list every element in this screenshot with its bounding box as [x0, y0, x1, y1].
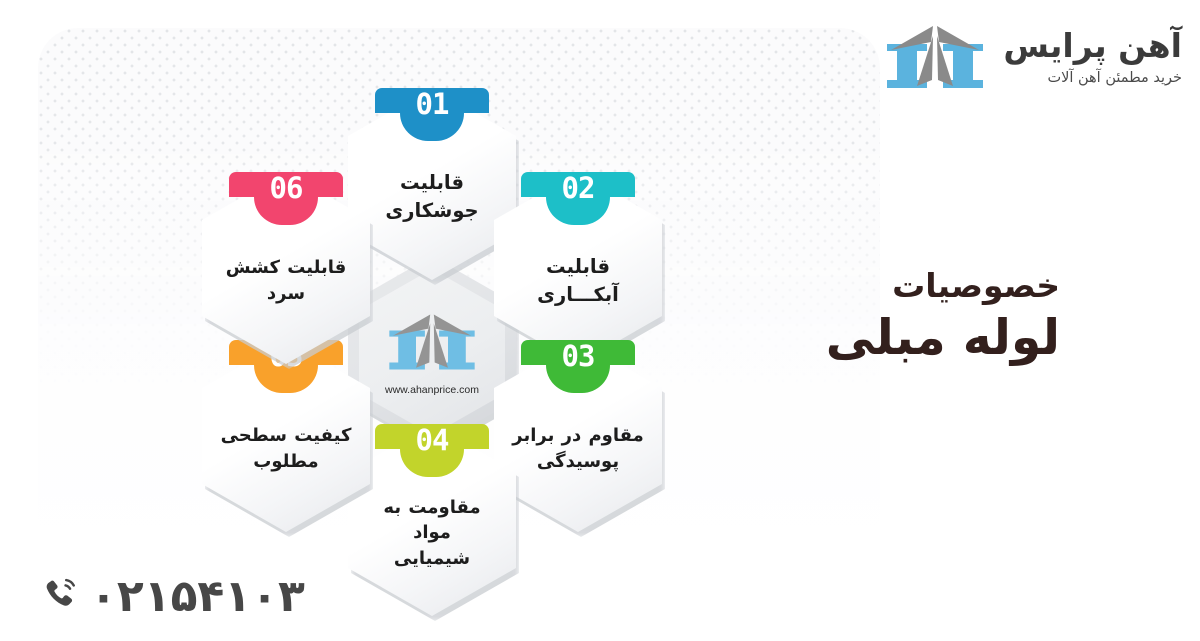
brand-text: آهن پرایس خرید مطمئن آهن آلات — [1003, 29, 1182, 86]
brand-tagline: خرید مطمئن آهن آلات — [1003, 71, 1182, 86]
arch-building-logo-icon — [881, 20, 989, 94]
hexagon-label: مقاومت به موادشیمیایی — [366, 495, 498, 572]
hexagon-item-04[interactable]: مقاومت به موادشیمیایی 04 — [348, 424, 516, 616]
hexagon-item-02[interactable]: قابلیتآبکـــاری 02 — [494, 172, 662, 364]
brand-name: آهن پرایس — [1003, 29, 1182, 62]
hexagon-number: 02 — [562, 174, 595, 203]
arch-building-logo-icon — [384, 309, 480, 379]
hexagon-label: کیفیت سطحیمطلوب — [220, 423, 352, 474]
hexagon-number-badge: 02 — [521, 172, 635, 197]
hexagon-number: 06 — [270, 174, 303, 203]
hexagon-number-badge: 01 — [375, 88, 489, 113]
contact-phone[interactable]: ۰۲۱۵۴۱۰۳ — [42, 575, 305, 619]
hexagon-number: 01 — [416, 90, 449, 119]
brand-logo: آهن پرایس خرید مطمئن آهن آلات — [881, 20, 1182, 94]
hexagon-label: قابلیت کششسرد — [220, 255, 352, 306]
hexagon-label: قابلیتآبکـــاری — [512, 253, 644, 308]
title-line-1: خصوصیات — [826, 268, 1060, 304]
hexagon-number-badge: 03 — [521, 340, 635, 365]
hexagon-label: مقاوم در برابرپوسیدگی — [512, 423, 644, 474]
center-website-label: www.ahanprice.com — [385, 384, 479, 396]
title-line-2: لوله مبلی — [826, 310, 1060, 366]
hexagon-item-01[interactable]: قابلیتجوشکاری 01 — [348, 88, 516, 280]
hexagon-number-badge: 04 — [375, 424, 489, 449]
center-hexagon: www.ahanprice.com — [348, 256, 516, 448]
hexagon-cluster: www.ahanprice.com قابلیتجوشکاری 01 قابلی… — [0, 0, 700, 600]
hexagon-item-06[interactable]: قابلیت کششسرد 06 — [202, 172, 370, 364]
phone-call-icon — [42, 576, 80, 618]
hexagon-number: 04 — [416, 426, 449, 455]
hexagon-item-05[interactable]: کیفیت سطحیمطلوب 05 — [202, 340, 370, 532]
hexagon-number-badge: 06 — [229, 172, 343, 197]
phone-number: ۰۲۱۵۴۱۰۳ — [90, 575, 305, 619]
hexagon-label: قابلیتجوشکاری — [366, 169, 498, 224]
page-title: خصوصیات لوله مبلی — [826, 268, 1060, 367]
hexagon-item-03[interactable]: مقاوم در برابرپوسیدگی 03 — [494, 340, 662, 532]
hexagon-number: 03 — [562, 342, 595, 371]
